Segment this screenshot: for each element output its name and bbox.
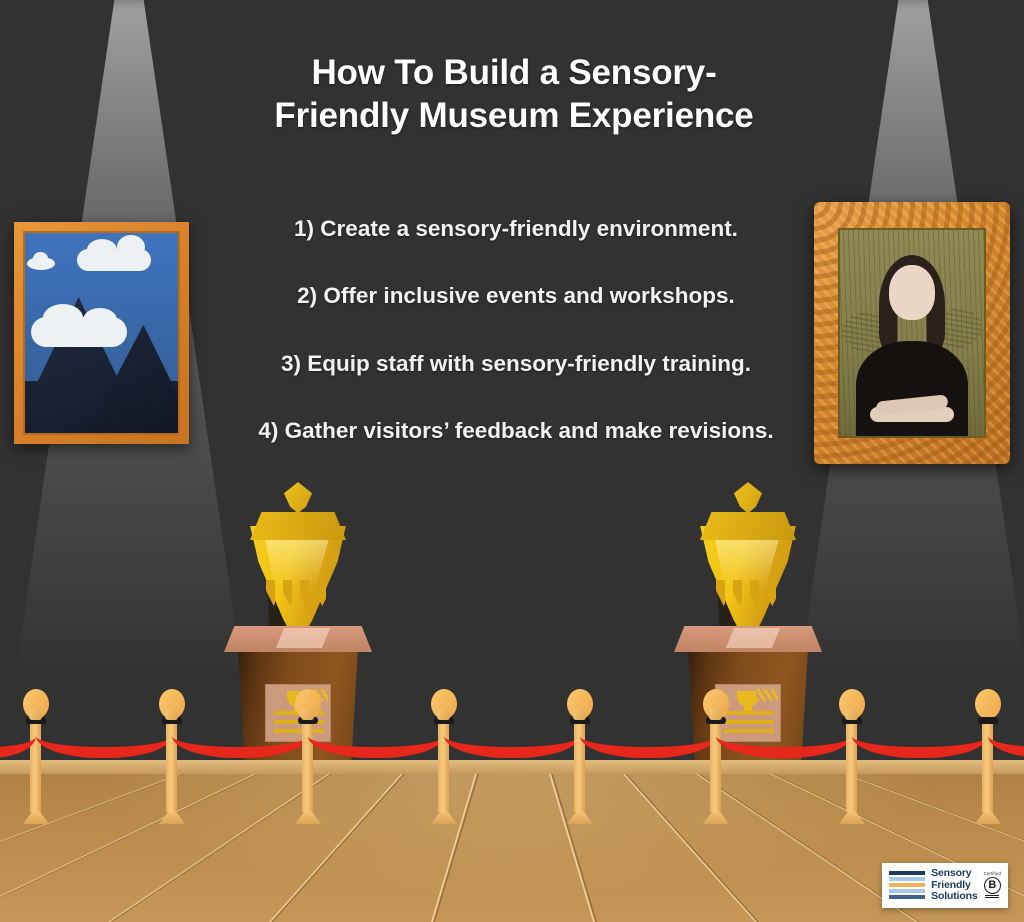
logo-bar-5 [889,895,925,899]
logo-bar-4 [889,889,925,893]
stanchion-post [980,689,996,824]
bcorp-base-icon [985,895,999,899]
stanchion-foot [839,812,865,824]
stanchion-foot [23,812,49,824]
logo-bars-icon [889,871,925,899]
stanchion-foot [295,812,321,824]
list-item: 2) Offer inclusive events and workshops. [180,281,852,311]
page-title: How To Build a Sensory- Friendly Museum … [236,52,792,137]
bcorp-certification-badge: Certified B [984,871,1001,899]
cloud-icon [27,257,55,270]
list-item: 1) Create a sensory-friendly environment… [180,214,852,244]
stanchion-foot [703,812,729,824]
logo-wordmark: Sensory Friendly Solutions [931,868,977,903]
rope-clasp [437,708,450,720]
golden-vase [237,480,359,648]
rope-clasp [301,708,314,720]
picture-frame [14,222,189,444]
stanchion-foot [431,812,457,824]
velvet-rope [172,712,308,758]
cloud-icon [31,317,127,347]
rope-clasp [709,708,722,720]
plaque-tag [756,689,778,701]
velvet-rope [580,712,716,758]
museum-infographic: How To Build a Sensory- Friendly Museum … [0,0,1024,922]
painting-canvas [23,231,180,435]
velvet-rope [852,712,988,758]
page-title-line-1: How To Build a Sensory- [236,52,792,95]
stanchion-foot [159,812,185,824]
logo-bar-3 [889,883,925,887]
pedestal-top [224,626,372,652]
stanchion-foot [567,812,593,824]
stanchion-foot [975,812,1001,824]
velvet-rope [36,712,172,758]
bcorp-mark: B [984,877,1001,894]
mountain-landscape-painting [14,222,189,444]
logo-bar-1 [889,871,925,875]
steps-list: 1) Create a sensory-friendly environment… [180,214,852,447]
pedestal-top [674,626,822,652]
vase-neck [700,512,796,540]
list-item: 4) Gather visitors’ feedback and make re… [180,416,852,446]
page-title-line-2: Friendly Museum Experience [236,95,792,138]
rope-clasp [845,708,858,720]
golden-vase [687,480,809,648]
portrait-arms [870,407,954,422]
portrait-painting [814,202,1010,464]
logo-bar-2 [889,877,925,881]
vase-neck [250,512,346,540]
logo-line-3: Solutions [931,891,977,903]
rope-clasp [573,708,586,720]
bcorp-label: Certified [984,871,1001,876]
painting-canvas [838,228,986,438]
list-item: 3) Equip staff with sensory-friendly tra… [180,349,852,379]
portrait-face [889,265,935,320]
brand-logo[interactable]: Sensory Friendly Solutions Certified B [882,863,1008,908]
rope-barrier [0,714,1024,824]
velvet-rope [308,712,444,758]
velvet-rope [444,712,580,758]
cloud-icon [77,249,151,271]
logo-line-1: Sensory [931,868,977,880]
velvet-rope [716,712,852,758]
portrait-dress [856,341,968,436]
rope-clasp [165,708,178,720]
